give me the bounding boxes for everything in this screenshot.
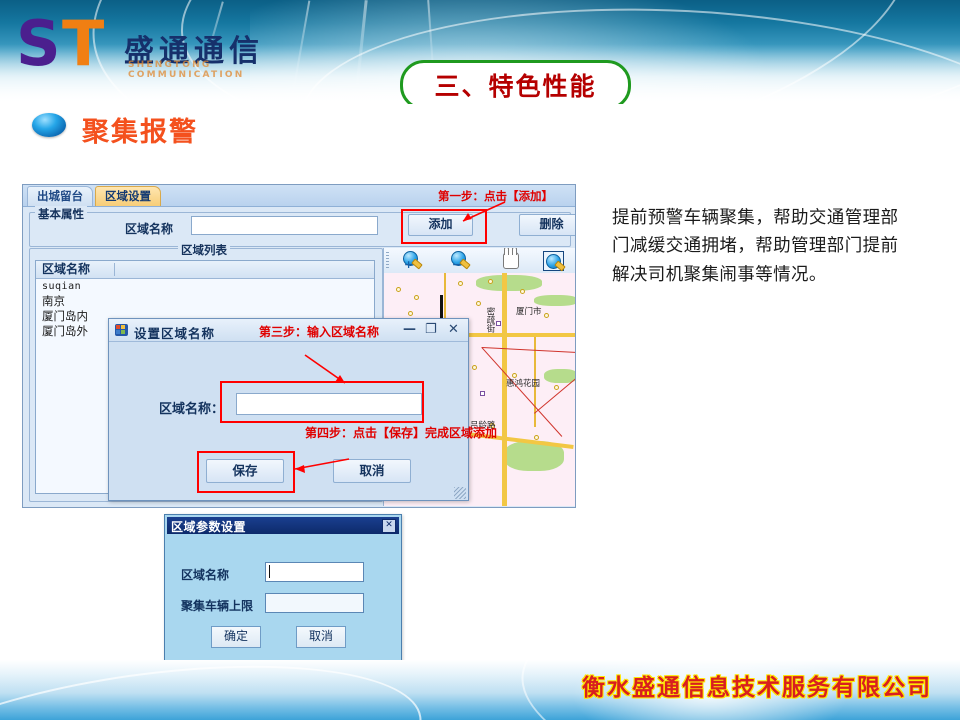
group-region-list-legend: 区域列表 xyxy=(178,242,230,258)
section-badge: 三、特色性能 xyxy=(400,60,631,104)
window-app-icon xyxy=(115,324,128,336)
param-region-name-input[interactable] xyxy=(265,562,364,582)
pan-hand-icon[interactable] xyxy=(500,251,522,271)
group-basic-properties-legend: 基本属性 xyxy=(35,206,87,222)
dialog-title-bar[interactable]: 设置区域名称 第三步：输入区域名称 — ❐ ✕ xyxy=(109,319,468,342)
tab-chucheng[interactable]: 出城留台 xyxy=(27,186,93,206)
close-icon[interactable]: ✕ xyxy=(448,324,459,336)
zoom-out-icon[interactable]: − xyxy=(450,251,472,271)
map-toolbar: + − xyxy=(384,248,575,274)
arrow-to-add-button xyxy=(443,199,513,229)
dialog2-title-bar[interactable]: 区域参数设置 ✕ xyxy=(167,517,399,534)
dialog-set-region-name: 设置区域名称 第三步：输入区域名称 — ❐ ✕ 区域名称： 第四步：点击【保存】… xyxy=(108,318,469,501)
cancel-button-label: 取消 xyxy=(309,629,333,643)
resize-grip[interactable] xyxy=(454,487,466,499)
dialog-region-name-label: 区域名称： xyxy=(159,398,224,417)
logo-letter-s: S xyxy=(16,16,58,72)
zoom-in-icon[interactable]: + xyxy=(402,251,424,271)
tab-quyu-shezhi[interactable]: 区域设置 xyxy=(95,186,161,206)
list-item[interactable]: 南京 xyxy=(36,294,374,309)
page-title: 聚集报警 xyxy=(82,110,198,149)
region-list-header: 区域名称 xyxy=(36,261,374,279)
cancel-button-label: 取消 xyxy=(359,463,384,478)
confirm-button-label: 确定 xyxy=(224,629,248,643)
dialog-region-parameters: 区域参数设置 ✕ 区域名称 聚集车辆上限 确定 取消 xyxy=(164,514,402,673)
confirm-button[interactable]: 确定 xyxy=(211,626,261,648)
logo-company-en: SHENGTONG COMMUNICATION xyxy=(128,60,316,80)
feature-description: 提前预警车辆聚集，帮助交通管理部门减缓交通拥堵，帮助管理部门提前解决司机聚集闹事… xyxy=(612,204,912,289)
dialog2-title: 区域参数设置 xyxy=(171,518,246,535)
annotation-step-3: 第三步：输入区域名称 xyxy=(259,323,379,340)
list-item[interactable]: suqian xyxy=(36,279,374,294)
maximize-icon[interactable]: ❐ xyxy=(425,324,437,336)
bullet-icon xyxy=(32,113,66,137)
map-road-vertical xyxy=(502,273,507,506)
footer-company-name: 衡水盛通信息技术服务有限公司 xyxy=(582,668,932,702)
footer-arc-1 xyxy=(0,660,433,720)
map-label: 密疏街 xyxy=(484,307,496,333)
arrow-to-input xyxy=(299,351,369,393)
map-label: 厦门市 xyxy=(516,305,542,317)
param-region-name-label: 区域名称 xyxy=(181,566,229,583)
annotation-step-4: 第四步：点击【保存】完成区域添加 xyxy=(305,424,497,441)
select-area-icon[interactable] xyxy=(542,251,564,271)
toolbar-grip[interactable] xyxy=(386,252,389,269)
column-divider xyxy=(114,263,115,276)
slide-root: S T 盛通通信 SHENGTONG COMMUNICATION 三、特色性能 … xyxy=(0,0,960,720)
delete-button-label: 删除 xyxy=(539,217,563,231)
param-vehicle-limit-input[interactable] xyxy=(265,593,364,613)
company-logo: S T 盛通通信 SHENGTONG COMMUNICATION xyxy=(16,14,316,76)
header-banner: S T 盛通通信 SHENGTONG COMMUNICATION 三、特色性能 xyxy=(0,0,960,104)
param-vehicle-limit-label: 聚集车辆上限 xyxy=(181,597,253,614)
close-icon[interactable]: ✕ xyxy=(382,519,396,533)
region-name-label: 区域名称 xyxy=(125,220,173,237)
map-green-area xyxy=(476,275,542,291)
cancel-button[interactable]: 取消 xyxy=(296,626,346,648)
section-badge-label: 三、特色性能 xyxy=(434,67,596,103)
map-region-line xyxy=(482,347,575,353)
footer-banner: 衡水盛通信息技术服务有限公司 xyxy=(0,660,960,720)
logo-letter-t: T xyxy=(62,16,104,72)
delete-button[interactable]: 删除 xyxy=(519,214,576,236)
dialog-title: 设置区域名称 xyxy=(134,323,215,342)
tab-quyu-shezhi-label: 区域设置 xyxy=(105,189,151,203)
region-list-column-header: 区域名称 xyxy=(42,262,90,276)
arrow-to-save-button xyxy=(281,455,361,479)
map-label: 惠鸿花园 xyxy=(506,377,540,389)
minimize-icon[interactable]: — xyxy=(403,324,416,336)
tab-chucheng-label: 出城留台 xyxy=(37,189,83,203)
region-name-input[interactable] xyxy=(191,216,378,235)
